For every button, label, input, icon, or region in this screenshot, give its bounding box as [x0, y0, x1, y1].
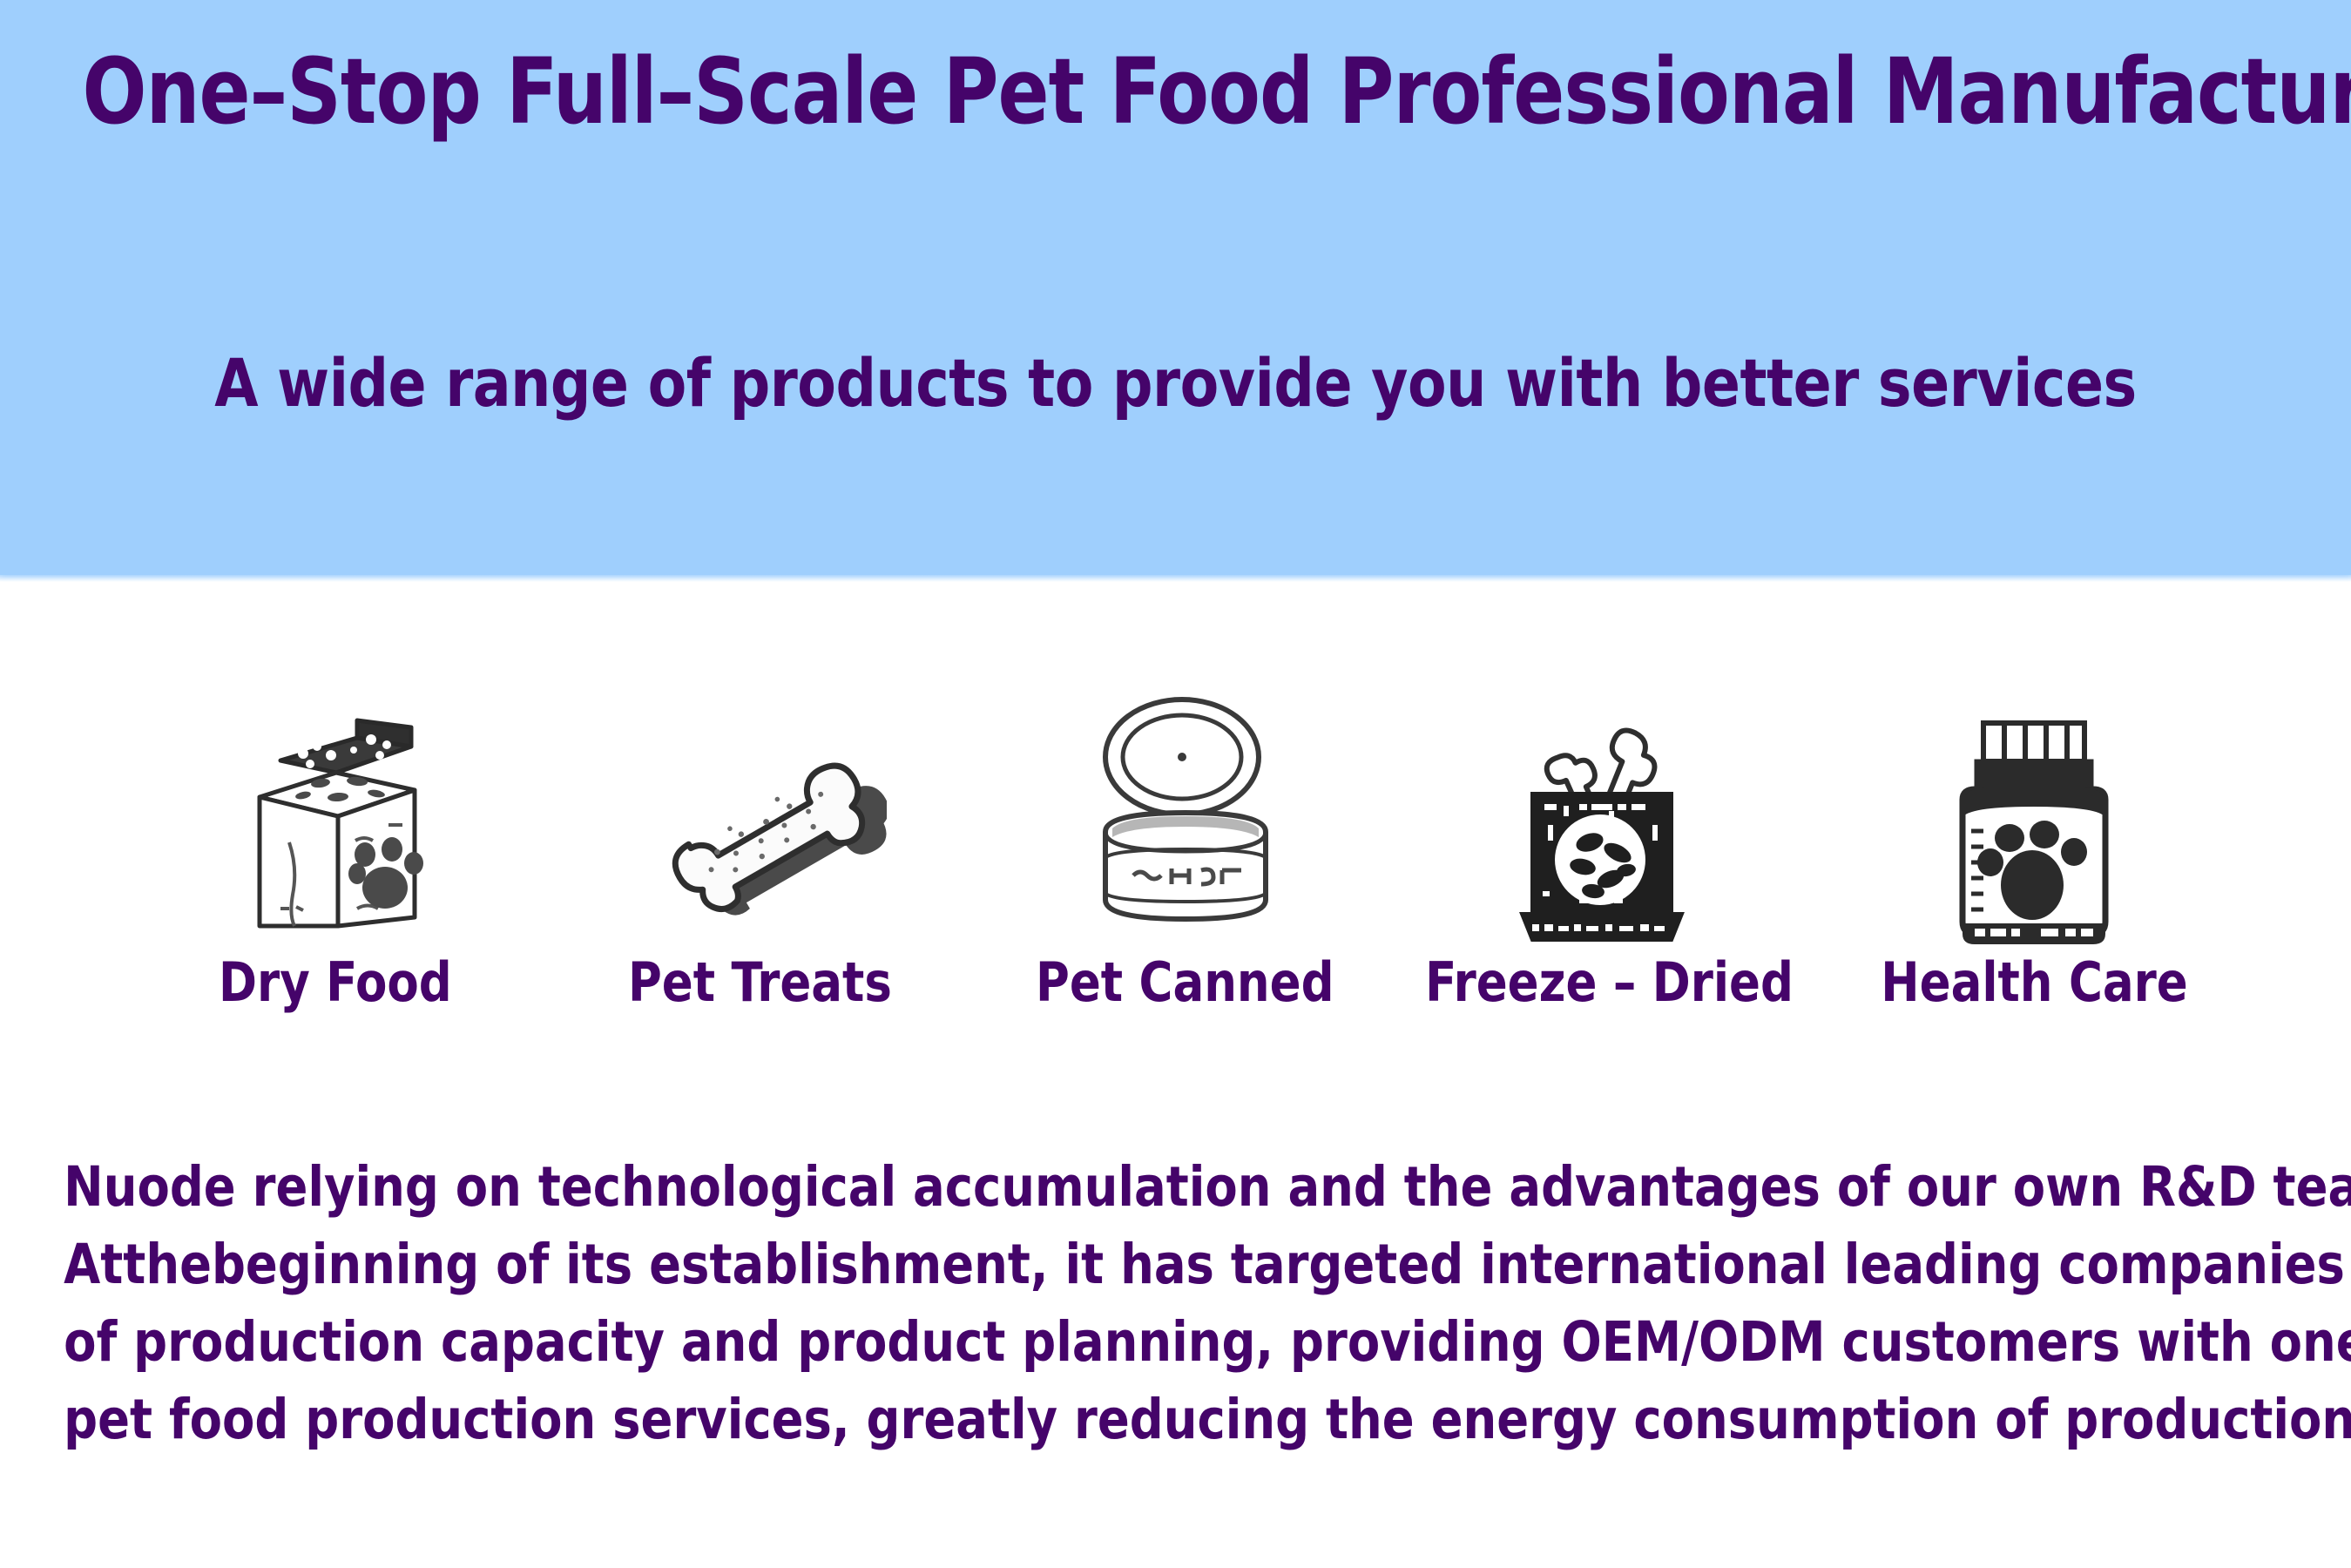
product-item-dry-food[interactable]: Dry Food [131, 675, 540, 1010]
supplement-bottle-icon [1936, 705, 2132, 954]
product-item-pet-treats[interactable]: Pet Treats [556, 672, 965, 1010]
product-label: Pet Treats [628, 954, 892, 1010]
product-label: Pet Canned [1036, 954, 1334, 1010]
paragraph-line: of production capacity and product plann… [64, 1303, 2287, 1381]
header-band: One–Stop Full–Scale Pet Food Professiona… [0, 0, 2351, 575]
bone-biscuit-icon [634, 672, 887, 933]
dry-food-carton-icon [226, 675, 444, 936]
description-paragraph: Nuode relying on technological accumulat… [64, 1148, 2287, 1458]
product-label: Dry Food [219, 954, 452, 1010]
product-item-health-care[interactable]: Health Care [1829, 705, 2239, 1010]
product-category-row: Dry Food [131, 645, 2239, 1010]
page-subtitle: A wide range of products to provide you … [58, 347, 2292, 420]
freeze-dried-bag-icon [1503, 696, 1716, 949]
product-item-pet-canned[interactable]: Pet Canned [980, 668, 1389, 1010]
product-item-freeze-dried[interactable]: Freeze – Dried [1405, 696, 1814, 1010]
paragraph-line: Nuode relying on technological accumulat… [64, 1148, 2287, 1226]
page-title: One–Stop Full–Scale Pet Food Professiona… [82, 42, 2268, 141]
product-label: Freeze – Dried [1425, 954, 1794, 1010]
product-label: Health Care [1881, 954, 2187, 1010]
pet-food-banner: One–Stop Full–Scale Pet Food Professiona… [0, 0, 2351, 1568]
paragraph-line: pet food production services, greatly re… [64, 1381, 2287, 1458]
paragraph-line: Atthebeginning of its establishment, it … [64, 1226, 2287, 1303]
open-can-icon [1084, 668, 1285, 929]
